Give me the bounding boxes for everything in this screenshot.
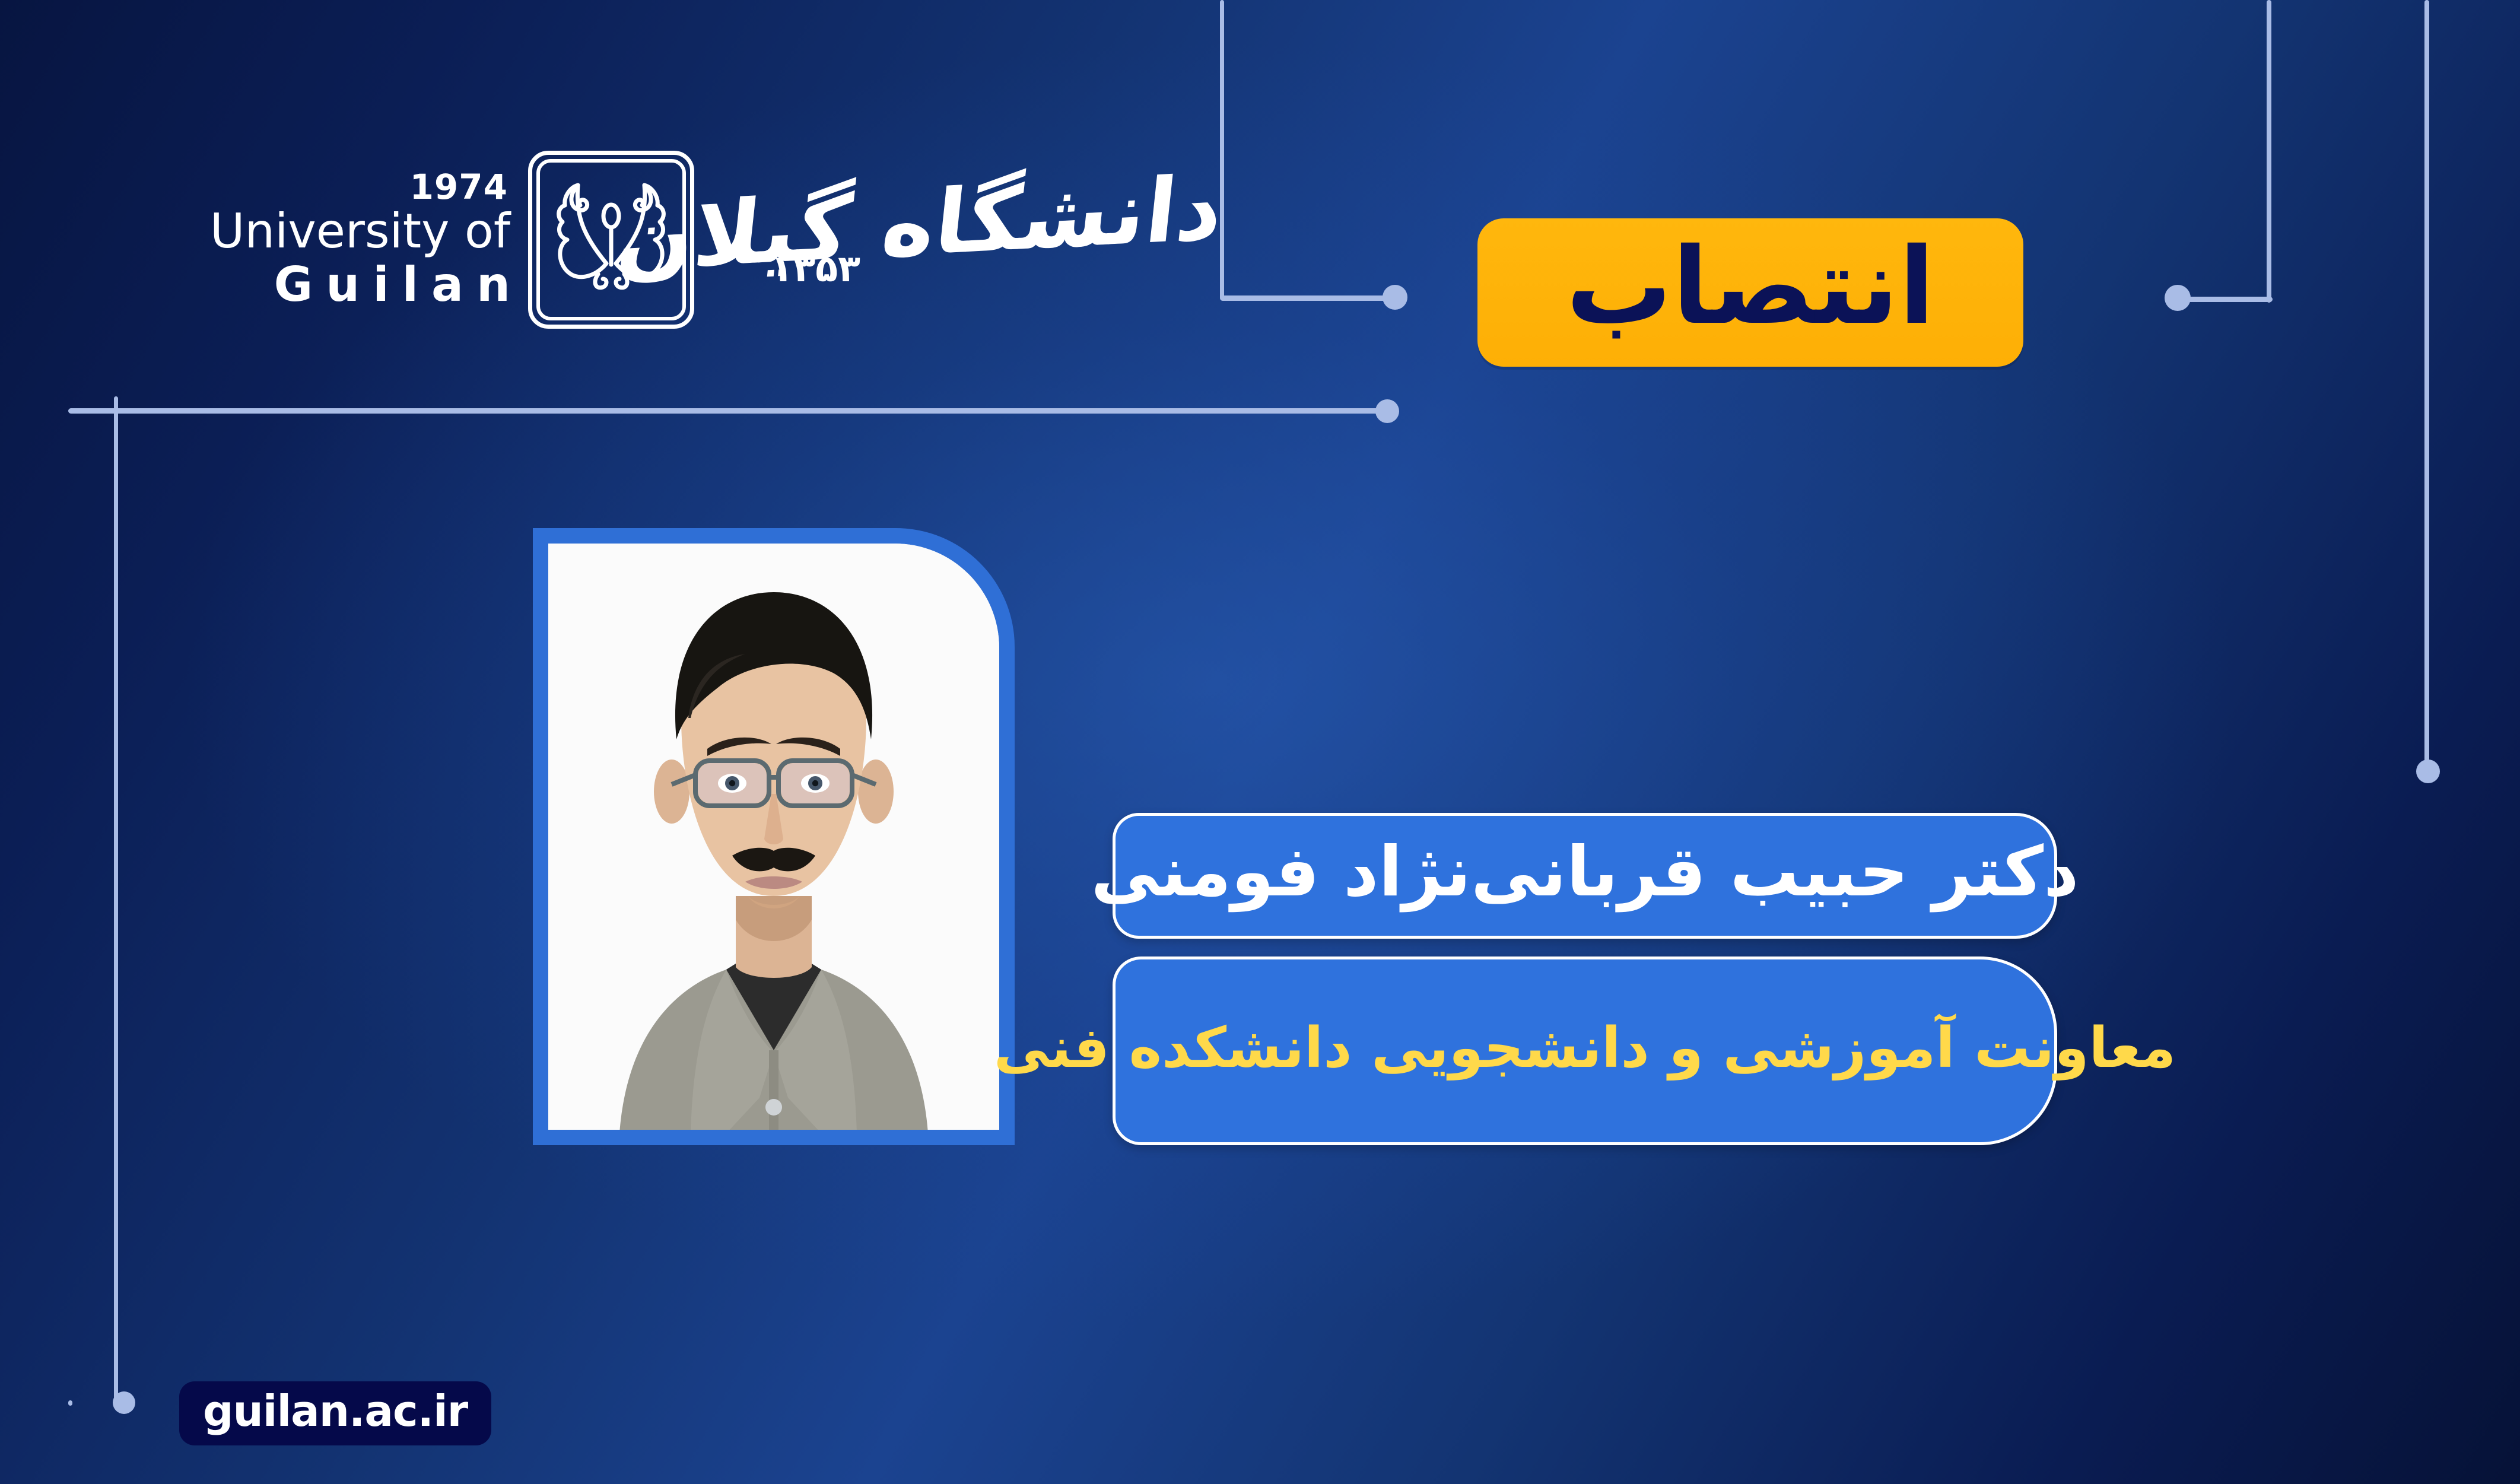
person-role-banner: معاونت آموزشی و دانشجویی دانشکده فنی <box>1113 957 2057 1145</box>
decorative-line-left-vertical <box>114 396 118 1405</box>
website-url-text: guilan.ac.ir <box>203 1386 468 1436</box>
portrait-illustration <box>548 544 999 1130</box>
announcement-poster: 1974 University of Guilan <box>0 0 2520 1484</box>
decorative-line-far-right-vertical <box>2424 0 2429 768</box>
university-name-persian: دانشگاه گیلان <box>612 153 1228 295</box>
decorative-dot-right <box>2165 285 2191 311</box>
decorative-dot-far-right <box>2416 760 2440 783</box>
decorative-dot-top-horizontal <box>1375 399 1399 423</box>
decorative-dot-left-bottom <box>113 1391 135 1414</box>
university-word: University of <box>178 208 510 255</box>
decorative-line-top-horizontal <box>68 408 1383 414</box>
university-logo-persian: دانشگاه گیلان ۱۳۵۳ <box>700 147 1222 337</box>
guilan-word: Guilan <box>178 261 523 309</box>
university-logo: 1974 University of Guilan <box>178 142 1222 344</box>
website-url-badge[interactable]: guilan.ac.ir <box>179 1381 491 1445</box>
appointment-badge: انتصاب <box>1477 218 2023 367</box>
decorative-line-right-vertical <box>2267 0 2271 303</box>
decorative-dot-center <box>1383 285 1407 310</box>
founded-year-persian: ۱۳۵۳ <box>771 247 860 290</box>
portrait-photo-frame <box>533 528 1015 1145</box>
appointment-badge-label: انتصاب <box>1566 234 1935 339</box>
decorative-line-center-horizontal <box>1220 295 1404 301</box>
university-logo-english: 1974 University of Guilan <box>178 170 510 309</box>
person-role: معاونت آموزشی و دانشجویی دانشکده فنی <box>994 1021 2176 1076</box>
founded-year-english: 1974 <box>178 170 508 204</box>
person-name: دکتر حبیب قربانی‌نژاد فومنی <box>1091 838 2079 907</box>
decorative-line-left-bottom <box>68 1400 72 1406</box>
person-name-banner: دکتر حبیب قربانی‌نژاد فومنی <box>1113 813 2057 939</box>
portrait-photo <box>548 544 999 1130</box>
